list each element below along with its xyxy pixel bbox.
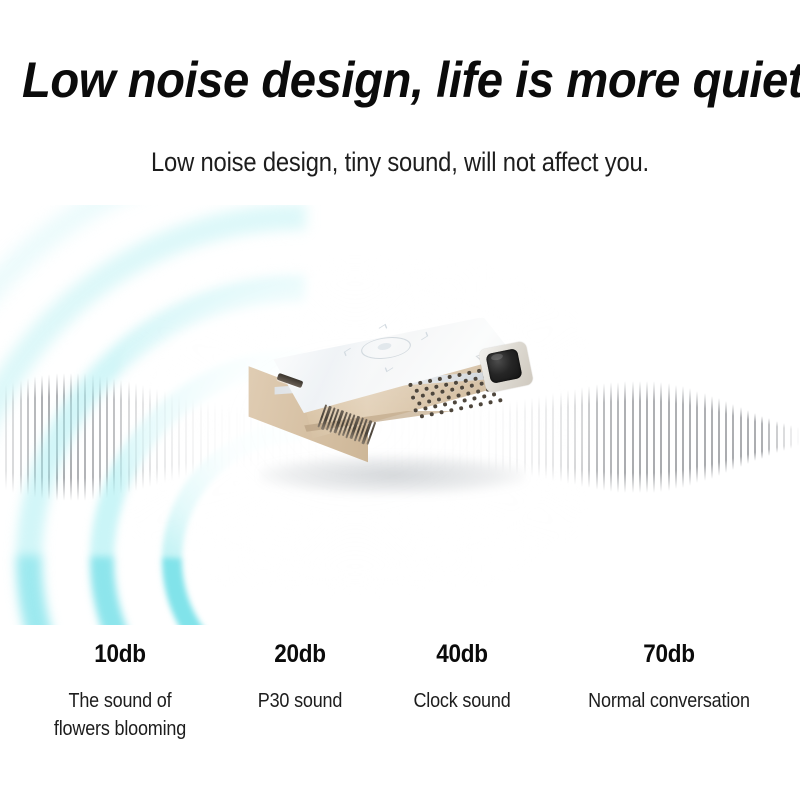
grille-dot <box>413 408 418 413</box>
grille-dot <box>428 379 433 384</box>
grille-dot <box>453 400 458 405</box>
stat-column: 40dbClock sound <box>362 640 562 715</box>
waveform-bar <box>639 381 641 494</box>
waveform-bar <box>63 373 65 501</box>
grille-dot <box>466 391 471 396</box>
grille-dot <box>462 398 467 403</box>
grille-dot <box>449 408 454 413</box>
waveform-bar <box>754 413 756 462</box>
grille-dot <box>411 395 416 400</box>
waveform-bar <box>653 381 655 492</box>
nav-up-icon[interactable] <box>379 324 387 332</box>
grille-dot <box>417 401 422 406</box>
grille-dot <box>472 396 477 401</box>
stat-value: 40db <box>372 640 552 669</box>
grille-dot <box>447 375 452 380</box>
stat-label: The sound of flowers blooming <box>17 687 224 744</box>
waveform-bar <box>740 407 742 467</box>
stat-label: Normal conversation <box>557 687 782 715</box>
grille-dot <box>460 385 465 390</box>
page-subtitle: Low noise design, tiny sound, will not a… <box>48 147 752 178</box>
grille-dot <box>420 414 425 419</box>
waveform-bar <box>56 373 58 501</box>
waveform-bar <box>99 375 101 499</box>
grille-dot <box>456 393 461 398</box>
grille-dot <box>439 410 444 415</box>
grille-dot <box>430 391 435 396</box>
waveform-bar <box>624 381 626 493</box>
stat-column: 70dbNormal conversation <box>544 640 794 715</box>
device-shadow <box>260 455 525 495</box>
grille-dot <box>434 384 439 389</box>
waveform-bar <box>5 384 7 491</box>
grille-dot <box>476 389 481 394</box>
grille-dot <box>408 383 413 388</box>
waveform-bar <box>603 383 605 491</box>
grille-dot <box>418 381 423 386</box>
grille-dot <box>414 388 419 393</box>
waveform-bar <box>768 418 770 456</box>
grille-dot <box>421 393 426 398</box>
waveform-bar <box>106 376 108 497</box>
waveform-bar <box>610 382 612 492</box>
waveform-bar <box>660 382 662 492</box>
waveform-bar <box>776 421 778 453</box>
waveform-bar <box>12 382 14 493</box>
waveform-bar <box>761 416 763 459</box>
grille-dot <box>454 380 459 385</box>
waveform-bar <box>70 373 72 502</box>
grille-dot <box>492 392 497 397</box>
waveform-bar <box>783 423 785 451</box>
waveform-bar <box>20 380 22 495</box>
grille-dot <box>470 383 475 388</box>
waveform-bar <box>725 401 727 473</box>
grille-dot <box>473 376 478 381</box>
grille-dot <box>478 402 483 407</box>
waveform-bar <box>790 425 792 448</box>
grille-dot <box>482 394 487 399</box>
grille-dot <box>488 400 493 405</box>
grille-dot <box>477 369 482 374</box>
grille-dot <box>463 378 468 383</box>
waveform-bar <box>596 384 598 489</box>
grille-dot <box>437 397 442 402</box>
waveform-bar <box>696 391 698 484</box>
waveform-bar <box>797 427 799 446</box>
waveform-bar <box>632 381 634 494</box>
grille-dot <box>467 371 472 376</box>
grille-dot <box>459 406 464 411</box>
grille-dot <box>446 395 451 400</box>
waveform-bar <box>711 396 713 479</box>
stat-value: 70db <box>557 640 782 669</box>
waveform-bar <box>675 385 677 490</box>
grille-dot <box>440 389 445 394</box>
waveform-bar <box>704 393 706 481</box>
waveform-bar <box>668 383 670 490</box>
page-title: Low noise design, life is more quiet <box>22 52 778 108</box>
sound-level-stats: 10dbThe sound of flowers blooming20dbP30… <box>0 640 800 770</box>
grille-dot <box>469 404 474 409</box>
waveform-bar <box>718 398 720 476</box>
waveform-bar <box>27 378 29 497</box>
waveform-bar <box>646 381 648 493</box>
waveform-bar <box>92 374 94 500</box>
projector-device <box>240 315 540 505</box>
grille-dot <box>498 398 503 403</box>
grille-dot <box>444 382 449 387</box>
grille-dot <box>427 399 432 404</box>
grille-dot <box>433 404 438 409</box>
stat-label: Clock sound <box>372 687 552 715</box>
grille-dot <box>457 373 462 378</box>
waveform-bar <box>48 374 50 500</box>
waveform-bar <box>77 373 79 501</box>
waveform-bar <box>682 386 684 487</box>
hero-illustration <box>0 205 800 625</box>
waveform-bar <box>41 375 43 499</box>
waveform-bar <box>732 404 734 470</box>
waveform-bar <box>747 410 749 464</box>
waveform-bar <box>617 382 619 493</box>
waveform-bar <box>113 378 115 496</box>
stat-value: 10db <box>17 640 224 669</box>
grille-dot <box>423 406 428 411</box>
grille-dot <box>450 387 455 392</box>
waveform-bar <box>84 373 86 500</box>
grille-dot <box>443 402 448 407</box>
waveform-bar <box>689 388 691 485</box>
grille-dot <box>424 386 429 391</box>
projector-lens-icon <box>485 348 522 384</box>
grille-dot <box>479 382 484 387</box>
grille-dot <box>438 377 443 382</box>
waveform-bar <box>34 376 36 498</box>
grille-dot <box>429 412 434 417</box>
